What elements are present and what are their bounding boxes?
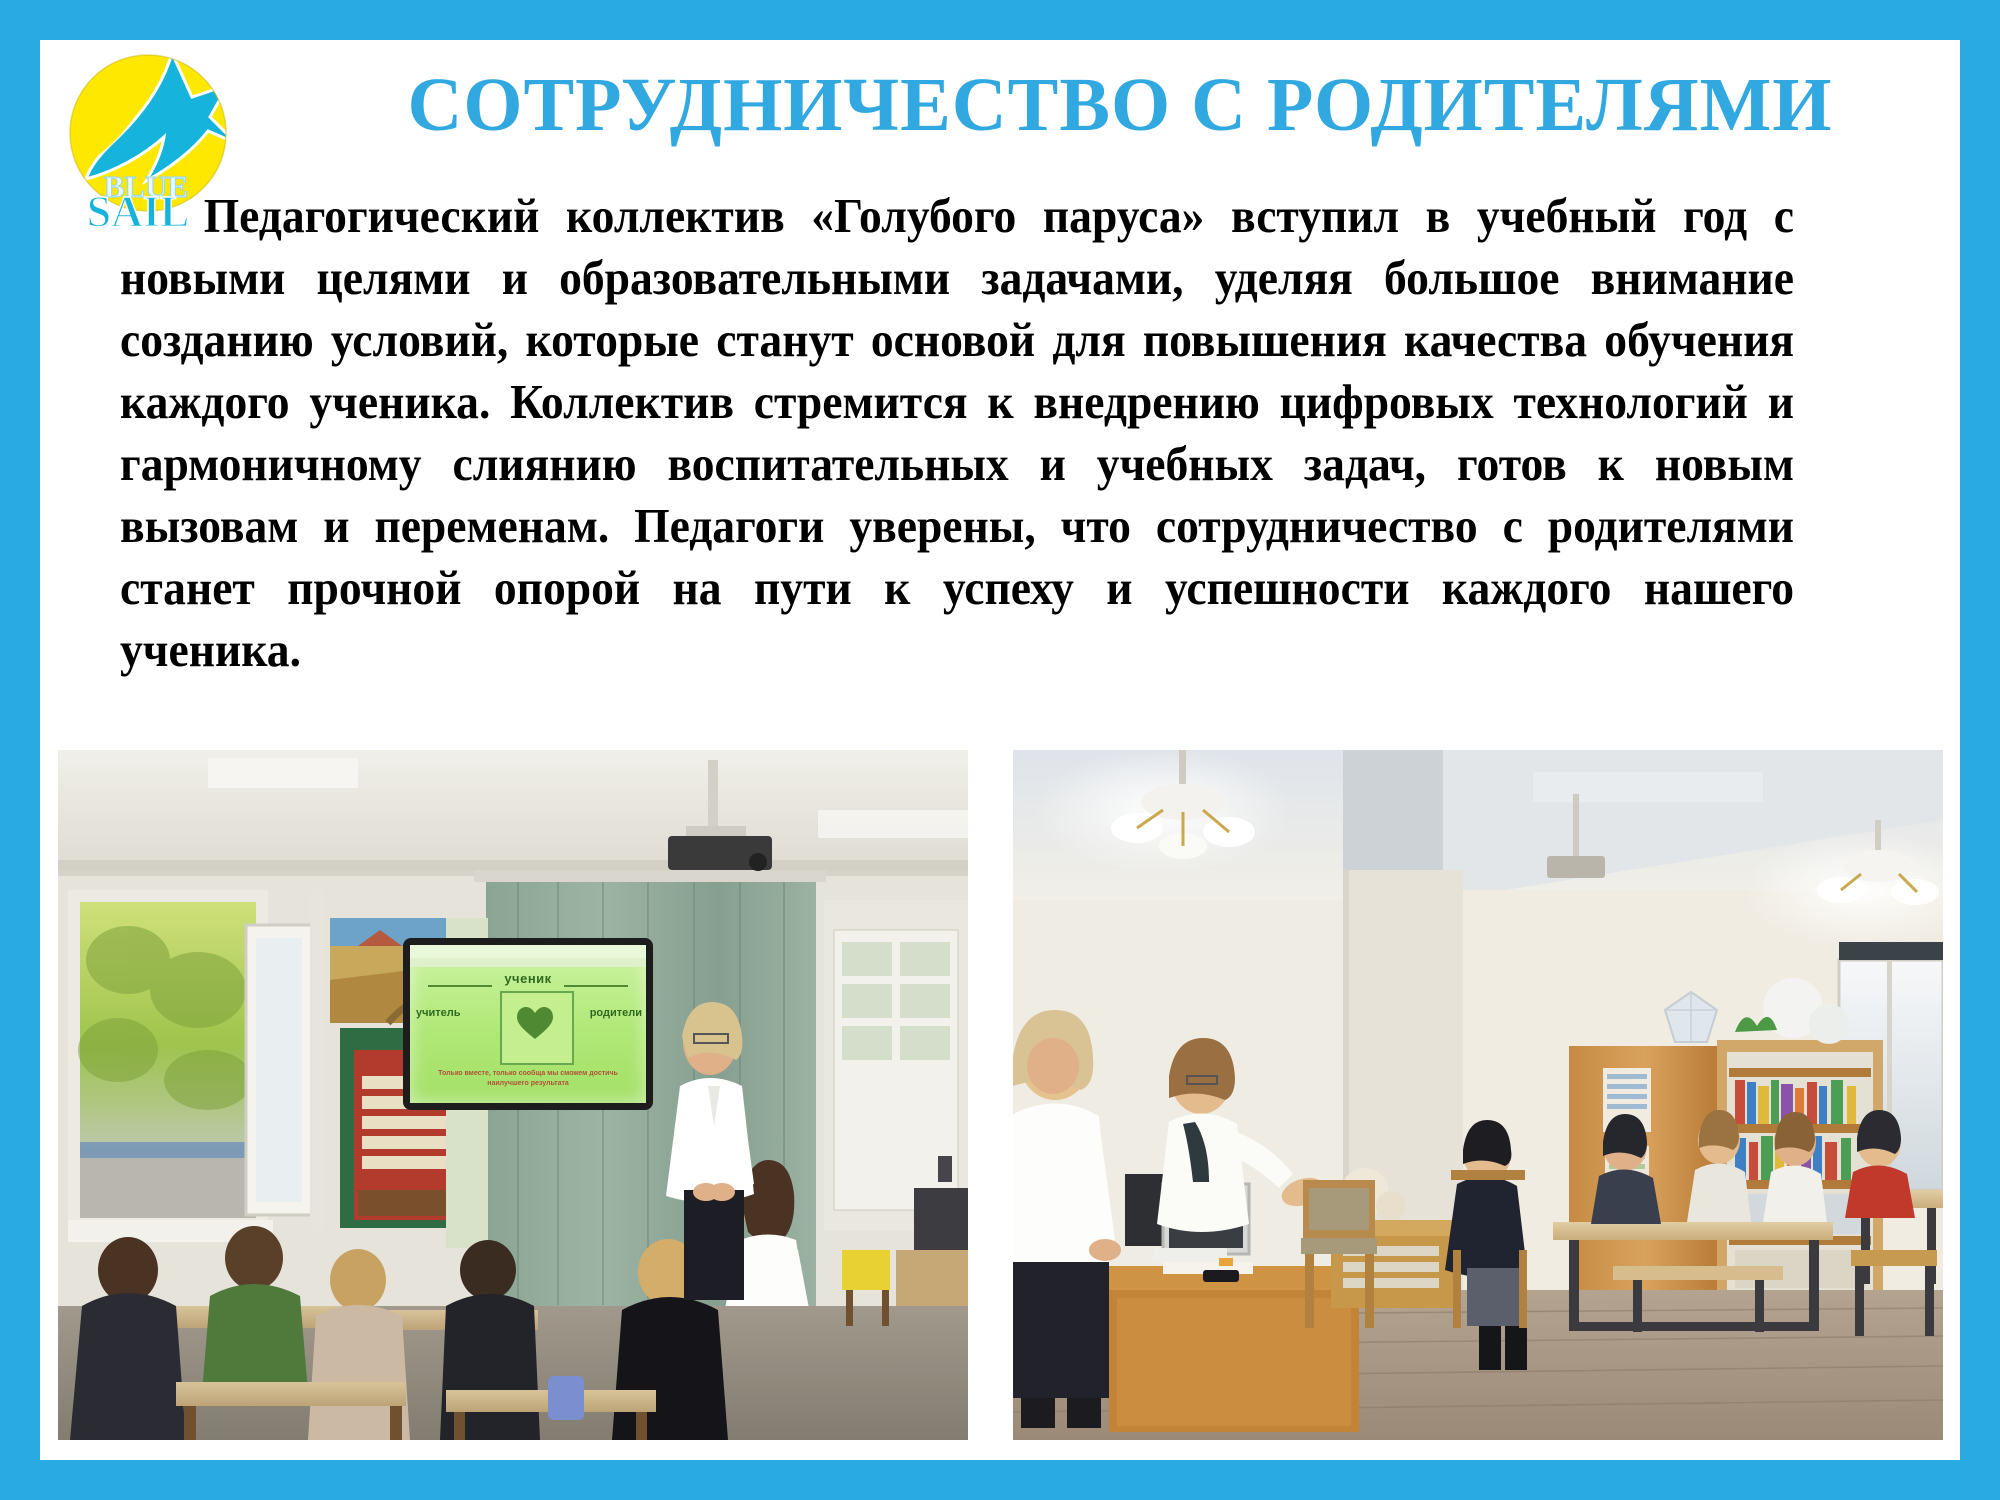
- screen-label-teacher: учитель: [416, 1007, 461, 1019]
- photo-classroom-parent-meeting-right: [1013, 750, 1943, 1440]
- body-paragraph: Педагогический коллектив «Голубого парус…: [120, 185, 1794, 681]
- photo-row: ученик учитель родители Только вместе, т…: [58, 750, 1943, 1440]
- slide-root: BLUE SAIL СОТРУДНИЧЕСТВО С РОДИТЕЛЯМИ Пе…: [0, 0, 2000, 1500]
- classroom-scene-right: [1013, 750, 1943, 1440]
- page-title: СОТРУДНИЧЕСТВО С РОДИТЕЛЯМИ: [300, 62, 1940, 148]
- screen-label-parents: родители: [590, 1007, 642, 1019]
- heart-in-hands-icon: [514, 1005, 556, 1043]
- interactive-whiteboard: ученик учитель родители Только вместе, т…: [403, 938, 653, 1110]
- screen-subtext: Только вместе, только сообща мы сможем д…: [422, 1069, 634, 1089]
- screen-label-student: ученик: [410, 971, 646, 986]
- teacher-presenter-figure: [658, 1000, 768, 1300]
- chandelier-left: [1033, 750, 1293, 872]
- slide-canvas: BLUE SAIL СОТРУДНИЧЕСТВО С РОДИТЕЛЯМИ Пе…: [40, 40, 1960, 1460]
- photo-classroom-parent-meeting-left: ученик учитель родители Только вместе, т…: [58, 750, 968, 1440]
